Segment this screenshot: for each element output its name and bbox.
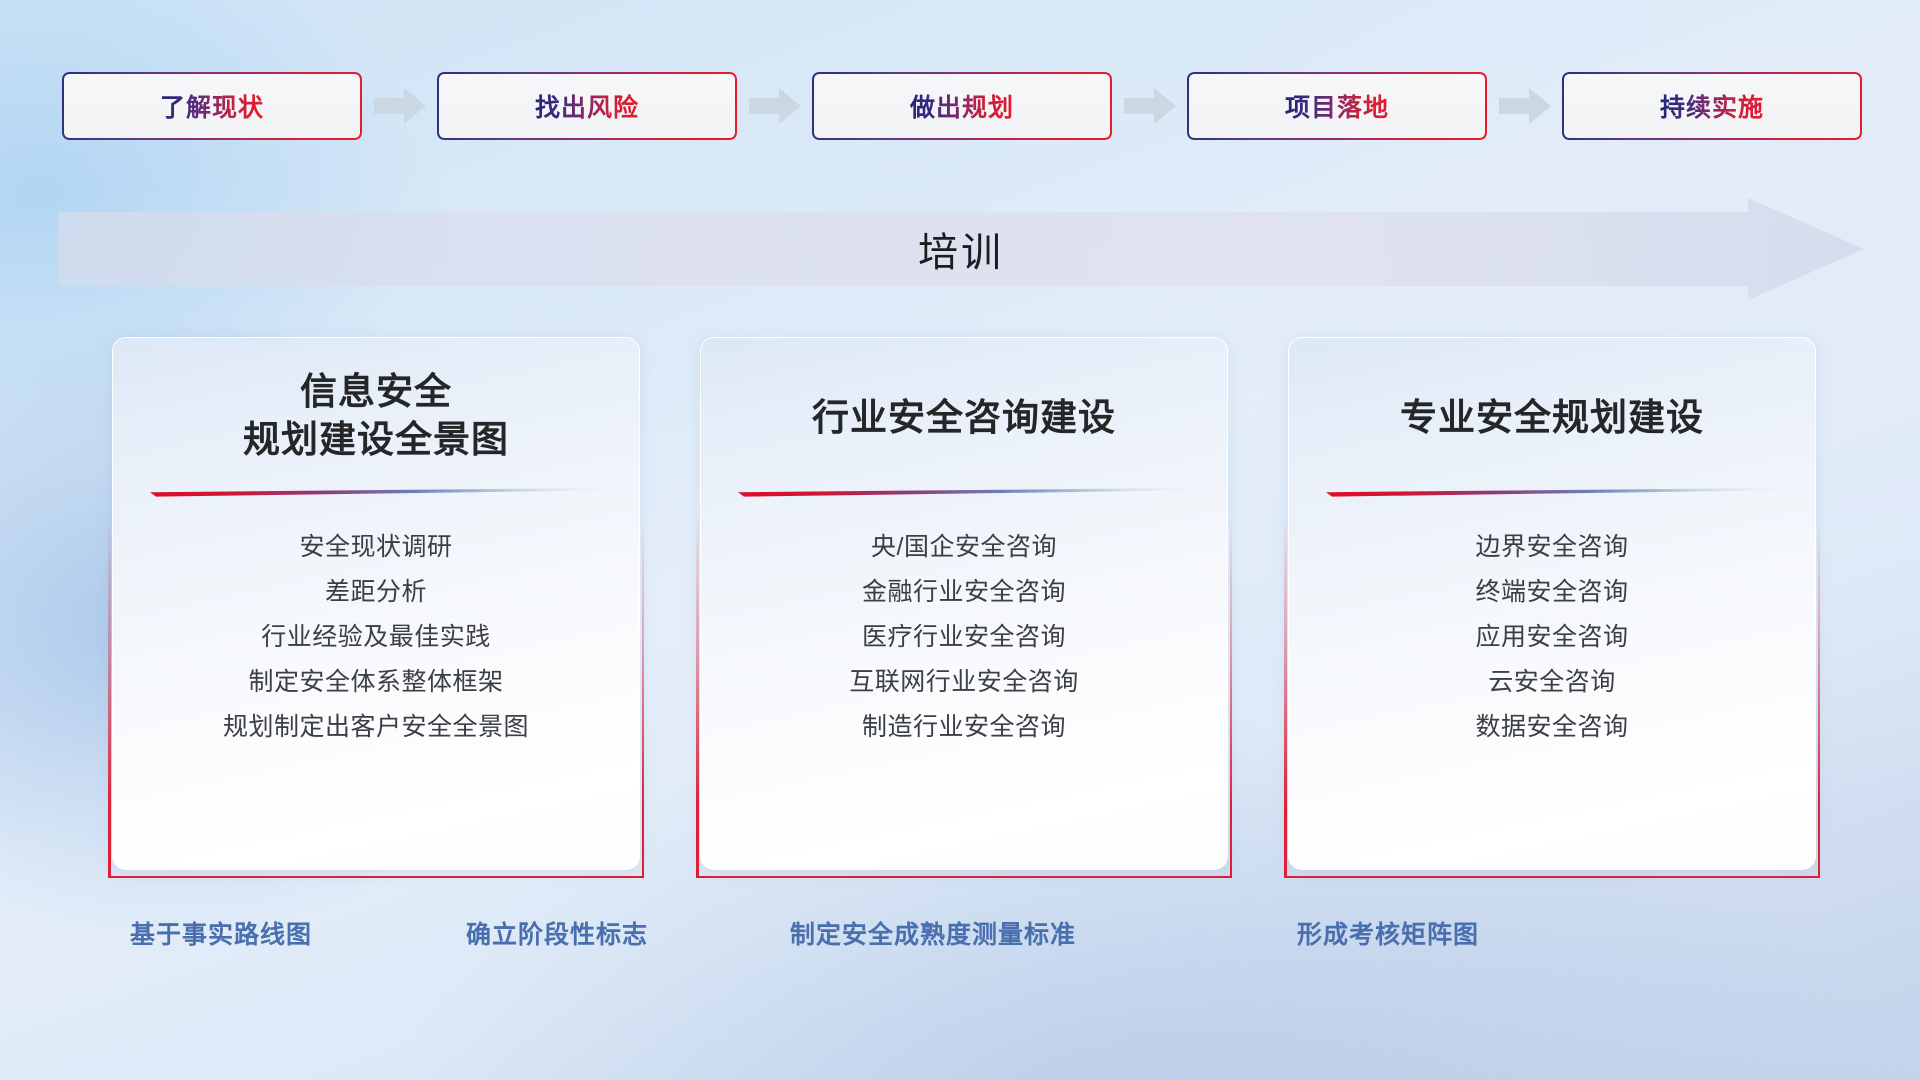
process-step-row: 了解现状 找出风险 做出规划 项目落地 持续实施 [62,72,1862,140]
gradient-divider-icon-1 [150,488,602,497]
list-item: 应用安全咨询 [1289,615,1815,660]
card-2-red-edge-left [696,517,699,878]
list-item: 医疗行业安全咨询 [701,615,1227,660]
card-2-list: 央/国企安全咨询 金融行业安全咨询 医疗行业安全咨询 互联网行业安全咨询 制造行… [701,525,1227,750]
card-1[interactable]: 信息安全 规划建设全景图 [112,337,640,870]
step-label-1: 了解现状 [160,88,264,124]
list-item: 规划制定出客户安全全景图 [113,705,639,750]
step-label-3: 做出规划 [910,88,1014,124]
card-1-list: 安全现状调研 差距分析 行业经验及最佳实践 制定安全体系整体框架 规划制定出客户… [113,525,639,750]
card-3-list: 边界安全咨询 终端安全咨询 应用安全咨询 云安全咨询 数据安全咨询 [1289,525,1815,750]
step-label-2: 找出风险 [535,88,639,124]
card-1-red-edge-left [108,517,111,878]
card-1-title: 信息安全 规划建设全景图 [243,368,509,464]
list-item: 行业经验及最佳实践 [113,615,639,660]
card-2-red-edge-right [1230,517,1233,878]
list-item: 制定安全体系整体框架 [113,660,639,705]
list-item: 安全现状调研 [113,525,639,570]
card-3-red-edge-left [1284,517,1287,878]
outcome-label-1: 基于事实路线图 [130,915,312,951]
card-3-body: 专业安全规划建设 [1288,337,1816,870]
card-2-title: 行业安全咨询建设 [812,394,1116,442]
outcome-label-3: 制定安全成熟度测量标准 [790,915,1076,951]
card-2-red-edge-bottom [696,876,1232,879]
list-item: 央/国企安全咨询 [701,525,1227,570]
outcome-label-row: 基于事实路线图 确立阶段性标志 制定安全成熟度测量标准 形成考核矩阵图 [0,915,1920,959]
list-item: 制造行业安全咨询 [701,705,1227,750]
arrow-right-icon-1 [362,86,437,126]
list-item: 终端安全咨询 [1289,570,1815,615]
arrow-right-icon-2 [737,86,812,126]
outcome-label-2: 确立阶段性标志 [466,915,648,951]
card-3-title: 专业安全规划建设 [1400,394,1704,442]
card-row: 信息安全 规划建设全景图 [112,337,1822,870]
card-3[interactable]: 专业安全规划建设 [1288,337,1816,870]
card-1-red-edge-right [642,517,645,878]
card-3-red-edge-bottom [1284,876,1820,879]
list-item: 差距分析 [113,570,639,615]
list-item: 数据安全咨询 [1289,705,1815,750]
card-1-body: 信息安全 规划建设全景图 [112,337,640,870]
list-item: 云安全咨询 [1289,660,1815,705]
training-banner-label: 培训 [918,220,1004,278]
step-box-3[interactable]: 做出规划 [812,72,1112,140]
list-item: 边界安全咨询 [1289,525,1815,570]
card-2-body: 行业安全咨询建设 [700,337,1228,870]
arrow-right-icon-4 [1487,86,1562,126]
training-banner-label-wrap: 培训 [58,198,1864,300]
arrow-right-icon-3 [1112,86,1187,126]
gradient-divider-icon-2 [738,488,1190,497]
step-label-5: 持续实施 [1660,88,1764,124]
step-box-4[interactable]: 项目落地 [1187,72,1487,140]
list-item: 互联网行业安全咨询 [701,660,1227,705]
step-label-4: 项目落地 [1285,88,1389,124]
card-2[interactable]: 行业安全咨询建设 [700,337,1228,870]
outcome-label-4: 形成考核矩阵图 [1297,915,1479,951]
step-box-5[interactable]: 持续实施 [1562,72,1862,140]
list-item: 金融行业安全咨询 [701,570,1227,615]
step-box-2[interactable]: 找出风险 [437,72,737,140]
slide-canvas: 了解现状 找出风险 做出规划 项目落地 持续实施 [0,0,1920,1080]
card-1-red-edge-bottom [108,876,644,879]
gradient-divider-icon-3 [1326,488,1778,497]
step-box-1[interactable]: 了解现状 [62,72,362,140]
card-3-red-edge-right [1818,517,1821,878]
